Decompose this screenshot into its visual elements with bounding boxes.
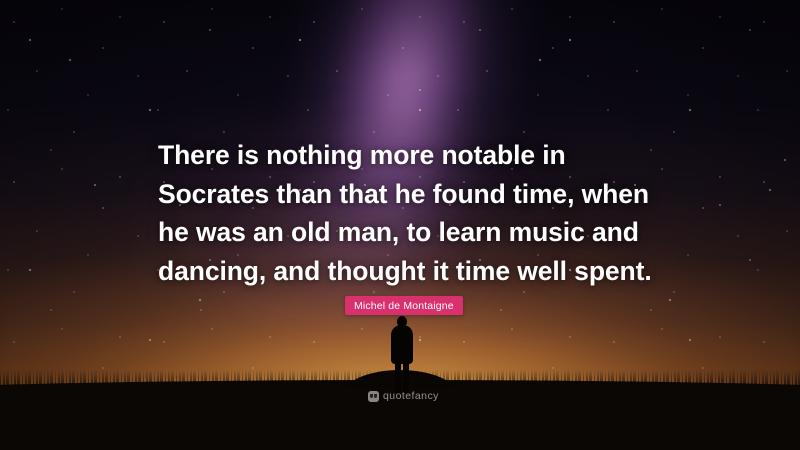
person-silhouette	[390, 316, 414, 392]
quote-mark-right	[374, 394, 377, 398]
quote-mark-left	[370, 394, 373, 398]
author-badge: Michel de Montaigne	[345, 296, 463, 315]
person-leg-left	[395, 360, 401, 393]
quote-image: There is nothing more notable in Socrate…	[0, 0, 800, 450]
person-body	[391, 325, 413, 364]
author-name: Michel de Montaigne	[354, 300, 454, 312]
person-leg-right	[403, 360, 409, 393]
watermark: quotefancy	[368, 390, 439, 402]
watermark-label: quotefancy	[383, 390, 439, 402]
quote-mark-icon	[368, 391, 379, 402]
quote-text: There is nothing more notable in Socrate…	[158, 136, 658, 290]
